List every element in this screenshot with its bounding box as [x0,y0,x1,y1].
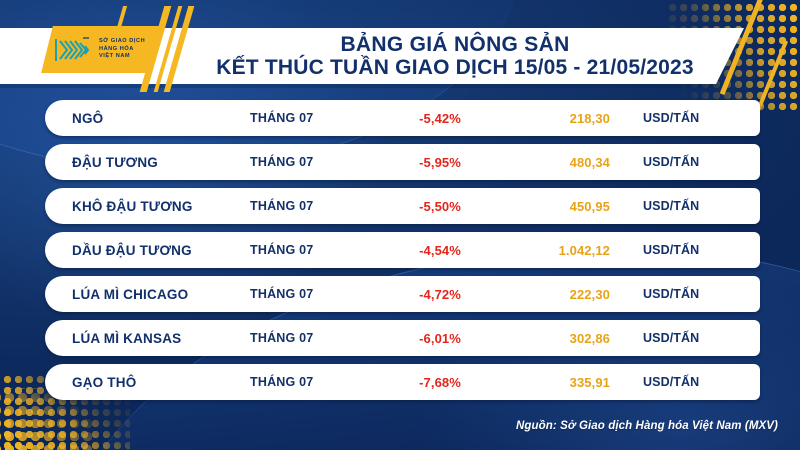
cell-percent-change: -5,50% [385,199,495,214]
cell-unit: USD/TẤN [643,155,699,169]
cell-unit: USD/TẤN [643,243,699,257]
cell-percent-change: -4,54% [385,243,495,258]
cell-commodity-name: ĐẬU TƯƠNG [72,155,158,170]
cell-percent-change: -7,68% [385,375,495,390]
commodity-price-table: NGÔTHÁNG 07-5,42%218,30USD/TẤNĐẬU TƯƠNGT… [45,100,760,408]
cell-contract-month: THÁNG 07 [250,287,313,301]
cell-percent-change: -5,42% [385,111,495,126]
cell-commodity-name: DẦU ĐẬU TƯƠNG [72,243,192,258]
cell-contract-month: THÁNG 07 [250,331,313,345]
cell-unit: USD/TẤN [643,199,699,213]
logo-line-1: SỞ GIAO DỊCH [99,38,145,44]
cell-price: 222,30 [500,287,610,302]
cell-price: 218,30 [500,111,610,126]
cell-price: 480,34 [500,155,610,170]
mxv-logo-text: SỞ GIAO DỊCH HÀNG HÓA VIỆT NAM [99,38,145,61]
cell-commodity-name: LÚA MÌ KANSAS [72,331,181,346]
title-line-1: BẢNG GIÁ NÔNG SẢN [340,33,569,56]
infographic-canvas: SỞ GIAO DỊCH HÀNG HÓA VIỆT NAM BẢNG GIÁ … [0,0,800,450]
decorative-slash-top-right-2 [756,40,788,112]
cell-price: 450,95 [500,199,610,214]
cell-contract-month: THÁNG 07 [250,243,313,257]
table-row: GẠO THÔTHÁNG 07-7,68%335,91USD/TẤN [45,364,760,400]
table-row: LÚA MÌ CHICAGOTHÁNG 07-4,72%222,30USD/TẤ… [45,276,760,312]
cell-percent-change: -6,01% [385,331,495,346]
cell-percent-change: -5,95% [385,155,495,170]
table-row: LÚA MÌ KANSASTHÁNG 07-6,01%302,86USD/TẤN [45,320,760,356]
logo-line-2: HÀNG HÓA [99,46,134,52]
cell-commodity-name: GẠO THÔ [72,375,136,390]
cell-price: 302,86 [500,331,610,346]
source-note: Nguồn: Sở Giao dịch Hàng hóa Việt Nam (M… [516,420,778,432]
cell-percent-change: -4,72% [385,287,495,302]
table-row: KHÔ ĐẬU TƯƠNGTHÁNG 07-5,50%450,95USD/TẤN [45,188,760,224]
cell-unit: USD/TẤN [643,287,699,301]
mxv-maze-logo-icon [53,35,93,65]
cell-commodity-name: LÚA MÌ CHICAGO [72,287,188,302]
table-row: DẦU ĐẬU TƯƠNGTHÁNG 07-4,54%1.042,12USD/T… [45,232,760,268]
mxv-logo: SỞ GIAO DỊCH HÀNG HÓA VIỆT NAM [41,26,159,73]
cell-contract-month: THÁNG 07 [250,111,313,125]
cell-commodity-name: NGÔ [72,111,103,126]
cell-unit: USD/TẤN [643,111,699,125]
cell-price: 335,91 [500,375,610,390]
table-row: NGÔTHÁNG 07-5,42%218,30USD/TẤN [45,100,760,136]
title-line-2: KẾT THÚC TUẦN GIAO DỊCH 15/05 - 21/05/20… [216,56,694,80]
cell-contract-month: THÁNG 07 [250,199,313,213]
page-title: BẢNG GIÁ NÔNG SẢN KẾT THÚC TUẦN GIAO DỊC… [190,28,720,84]
header-band-shadow [0,84,724,88]
cell-price: 1.042,12 [500,243,610,258]
table-row: ĐẬU TƯƠNGTHÁNG 07-5,95%480,34USD/TẤN [45,144,760,180]
cell-commodity-name: KHÔ ĐẬU TƯƠNG [72,199,193,214]
cell-unit: USD/TẤN [643,375,699,389]
cell-contract-month: THÁNG 07 [250,375,313,389]
cell-contract-month: THÁNG 07 [250,155,313,169]
logo-line-3: VIỆT NAM [99,53,130,59]
cell-unit: USD/TẤN [643,331,699,345]
